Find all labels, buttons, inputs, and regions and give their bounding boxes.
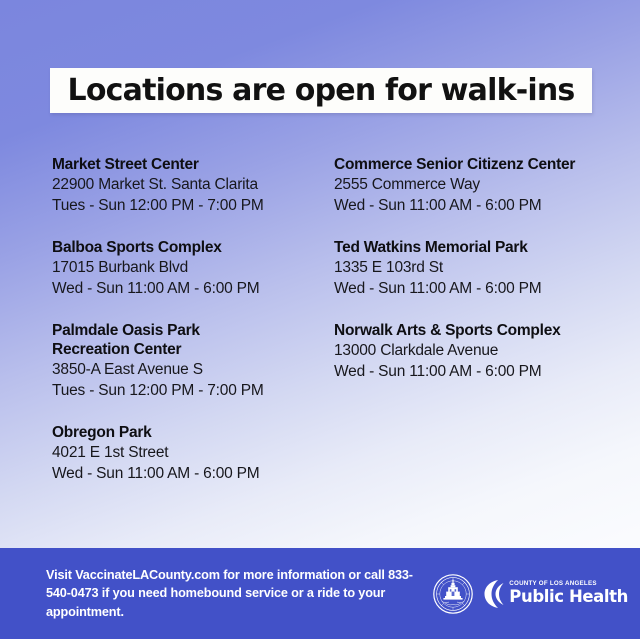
footer-bar: Visit VaccinateLACounty.com for more inf…	[0, 548, 640, 639]
location-card: Market Street Center 22900 Market St. Sa…	[52, 155, 342, 216]
location-address: 13000 Clarkdale Avenue	[334, 340, 624, 361]
locations-column-left: Market Street Center 22900 Market St. Sa…	[52, 155, 342, 506]
public-health-logo: COUNTY OF LOS ANGELES Public Health	[483, 579, 628, 609]
location-card: Palmdale Oasis Park Recreation Center 38…	[52, 321, 342, 401]
location-name: Norwalk Arts & Sports Complex	[334, 321, 624, 340]
location-name: Balboa Sports Complex	[52, 238, 342, 257]
location-hours: Wed - Sun 11:00 AM - 6:00 PM	[52, 463, 342, 484]
location-card: Balboa Sports Complex 17015 Burbank Blvd…	[52, 238, 342, 299]
logo-title: Public Health	[509, 589, 628, 606]
footer-message: Visit VaccinateLACounty.com for more inf…	[46, 566, 436, 622]
title-banner: Locations are open for walk-ins	[50, 68, 592, 113]
location-card: Norwalk Arts & Sports Complex 13000 Clar…	[334, 321, 624, 382]
poster-canvas: Locations are open for walk-ins Market S…	[0, 0, 640, 639]
location-address: 4021 E 1st Street	[52, 442, 342, 463]
location-address: 3850-A East Avenue S	[52, 359, 342, 380]
public-health-swoosh-icon	[483, 579, 505, 609]
location-name: Market Street Center	[52, 155, 342, 174]
location-hours: Wed - Sun 11:00 AM - 6:00 PM	[334, 195, 624, 216]
public-health-wordmark: COUNTY OF LOS ANGELES Public Health	[509, 581, 628, 605]
location-address: 1335 E 103rd St	[334, 257, 624, 278]
location-name: Commerce Senior Citizenz Center	[334, 155, 624, 174]
location-hours: Tues - Sun 12:00 PM - 7:00 PM	[52, 195, 342, 216]
county-seal-icon	[433, 574, 473, 614]
location-card: Ted Watkins Memorial Park 1335 E 103rd S…	[334, 238, 624, 299]
location-name: Palmdale Oasis Park	[52, 321, 342, 340]
location-address: 17015 Burbank Blvd	[52, 257, 342, 278]
location-address: 22900 Market St. Santa Clarita	[52, 174, 342, 195]
footer-logos: COUNTY OF LOS ANGELES Public Health	[433, 574, 628, 614]
locations-container: Market Street Center 22900 Market St. Sa…	[0, 155, 640, 535]
location-hours: Wed - Sun 11:00 AM - 6:00 PM	[334, 361, 624, 382]
location-name-line2: Recreation Center	[52, 340, 342, 359]
location-address: 2555 Commerce Way	[334, 174, 624, 195]
location-name: Obregon Park	[52, 423, 342, 442]
locations-column-right: Commerce Senior Citizenz Center 2555 Com…	[334, 155, 624, 404]
location-hours: Tues - Sun 12:00 PM - 7:00 PM	[52, 380, 342, 401]
location-name: Ted Watkins Memorial Park	[334, 238, 624, 257]
location-hours: Wed - Sun 11:00 AM - 6:00 PM	[52, 278, 342, 299]
page-title: Locations are open for walk-ins	[68, 73, 575, 108]
location-hours: Wed - Sun 11:00 AM - 6:00 PM	[334, 278, 624, 299]
location-card: Obregon Park 4021 E 1st Street Wed - Sun…	[52, 423, 342, 484]
location-card: Commerce Senior Citizenz Center 2555 Com…	[334, 155, 624, 216]
